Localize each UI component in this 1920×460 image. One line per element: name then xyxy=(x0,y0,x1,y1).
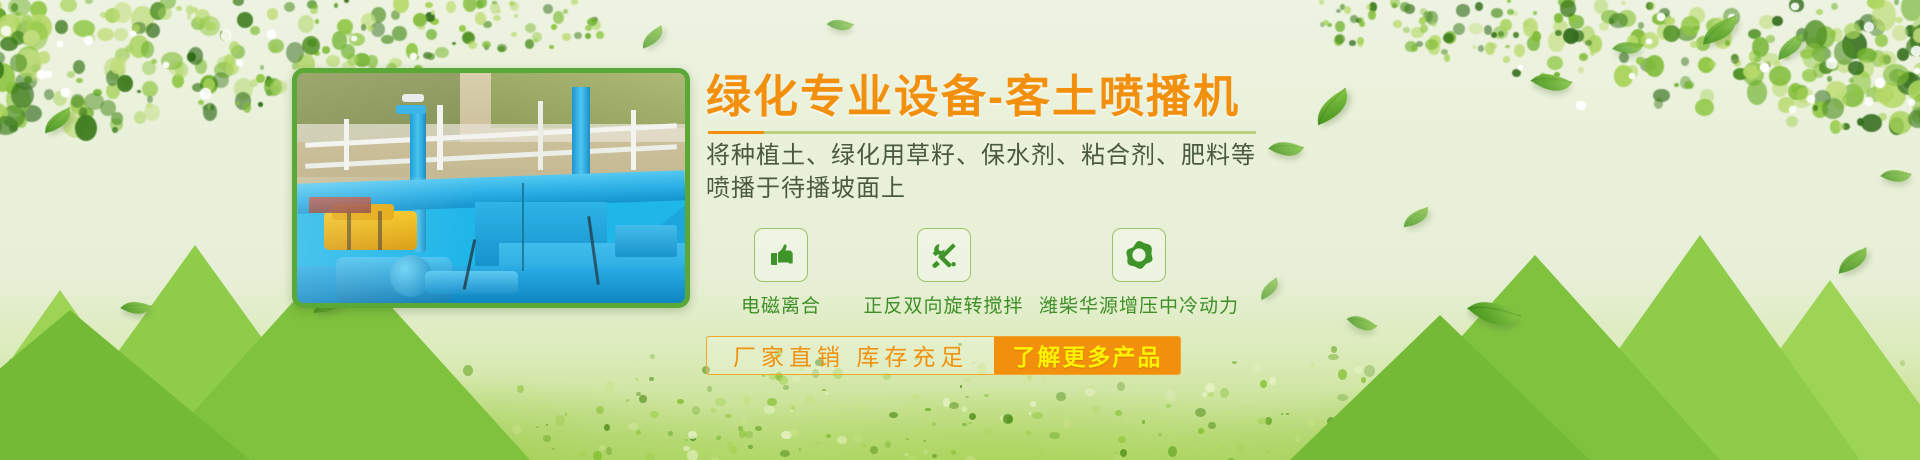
grass-speck xyxy=(984,428,993,436)
grass-speck xyxy=(1114,452,1117,454)
cta-bar: 厂家直销 库存充足 了解更多产品 xyxy=(706,336,1181,375)
grass-speck xyxy=(1141,385,1145,389)
grass-speck xyxy=(636,430,641,435)
grass-speck xyxy=(1198,428,1204,433)
grass-speck xyxy=(628,423,639,431)
title-divider xyxy=(708,131,1256,134)
grass-speck xyxy=(1117,382,1125,391)
grass-speck xyxy=(1056,436,1058,438)
engine-gear-icon xyxy=(1123,239,1155,271)
grass-speck xyxy=(960,385,963,388)
grass-speck xyxy=(687,450,698,460)
product-photo xyxy=(297,73,685,303)
grass-speck xyxy=(1118,436,1126,443)
grass-speck xyxy=(649,377,654,382)
grass-speck xyxy=(923,449,927,454)
grass-speck xyxy=(826,434,831,438)
grass-speck xyxy=(745,431,753,439)
grass-speck xyxy=(1266,449,1270,453)
grass-speck xyxy=(1041,452,1043,454)
grass-speck xyxy=(730,446,737,453)
grass-speck xyxy=(1220,446,1225,449)
grass-speck xyxy=(1208,392,1214,397)
grass-speck xyxy=(677,399,684,404)
grass-speck xyxy=(565,413,568,416)
grass-speck xyxy=(1257,418,1266,424)
promo-banner: 绿化专业设备-客土喷播机 将种植土、绿化用草籽、保水剂、粘合剂、肥料等 喷播于待… xyxy=(0,0,1920,460)
grass-speck xyxy=(1142,420,1145,424)
subtitle-line-1: 将种植土、绿化用草籽、保水剂、粘合剂、肥料等 xyxy=(706,140,1846,173)
grass-speck xyxy=(923,440,926,443)
grass-speck xyxy=(1195,408,1206,417)
grass-speck xyxy=(780,450,790,456)
grass-speck xyxy=(1225,409,1232,416)
grass-speck xyxy=(1026,430,1031,436)
grass-speck xyxy=(1003,414,1014,424)
feature-label: 正反双向旋转搅拌 xyxy=(863,291,1023,318)
grass-speck xyxy=(1042,378,1045,380)
grass-speck xyxy=(668,431,673,436)
grass-speck xyxy=(1032,412,1043,419)
tools-icon xyxy=(928,239,960,271)
grass-speck xyxy=(645,453,655,460)
grass-speck xyxy=(1120,449,1127,457)
grass-speck xyxy=(1085,388,1095,397)
grass-speck xyxy=(743,395,751,404)
grass-speck xyxy=(1202,392,1207,396)
grass-speck xyxy=(912,394,918,401)
grass-speck xyxy=(1123,415,1131,420)
grass-speck xyxy=(1168,446,1177,457)
thumbs-up-icon xyxy=(765,239,797,271)
grass-speck xyxy=(1063,419,1070,427)
grass-speck xyxy=(969,413,976,420)
learn-more-button[interactable]: 了解更多产品 xyxy=(994,337,1180,374)
grass-speck xyxy=(1208,422,1216,430)
feature-list: 电磁离合 正反双向旋转搅拌 xyxy=(706,228,1846,318)
grass-speck xyxy=(853,434,863,443)
grass-speck xyxy=(817,442,819,444)
grass-speck xyxy=(604,424,610,431)
feature-item-weichai-power[interactable]: 潍柴华源增压中冷动力 xyxy=(1031,228,1247,318)
grass-speck xyxy=(905,453,909,457)
grass-speck xyxy=(626,399,629,402)
grass-speck xyxy=(965,396,969,398)
grass-speck xyxy=(605,381,615,392)
grass-speck xyxy=(748,445,752,449)
grass-speck xyxy=(822,389,826,391)
feature-item-electromagnetic-clutch[interactable]: 电磁离合 xyxy=(706,228,856,318)
grass-speck xyxy=(639,395,647,404)
grass-speck xyxy=(555,415,566,426)
grass-speck xyxy=(889,412,898,419)
grass-speck xyxy=(1056,392,1065,401)
grass-speck xyxy=(837,436,847,445)
thumbs-up-icon-box xyxy=(754,228,808,282)
grass-speck xyxy=(1286,413,1289,415)
grass-speck xyxy=(599,445,605,452)
grass-speck xyxy=(799,448,802,451)
grass-speck xyxy=(862,444,867,447)
grass-speck xyxy=(774,435,776,437)
page-title: 绿化专业设备-客土喷播机 xyxy=(706,72,1846,122)
grass-speck xyxy=(1136,419,1142,426)
grass-speck xyxy=(1220,388,1229,398)
grass-speck xyxy=(755,426,762,431)
feature-item-bidirectional-mixing[interactable]: 正反双向旋转搅拌 xyxy=(856,228,1031,318)
banner-content: 绿化专业设备-客土喷播机 将种植土、绿化用草籽、保水剂、粘合剂、肥料等 喷播于待… xyxy=(706,72,1846,375)
grass-speck xyxy=(1235,444,1245,453)
grass-speck xyxy=(792,376,800,383)
feature-label: 潍柴华源增压中冷动力 xyxy=(1039,291,1239,318)
grass-speck xyxy=(1281,413,1283,415)
grass-speck xyxy=(906,438,909,440)
grass-speck xyxy=(870,446,878,454)
grass-speck xyxy=(779,376,788,386)
cta-tagline: 厂家直销 库存充足 xyxy=(707,337,994,374)
grass-speck xyxy=(1030,401,1036,407)
engine-gear-icon-box xyxy=(1112,228,1166,282)
grass-speck xyxy=(543,435,551,442)
grass-speck xyxy=(962,423,966,426)
grass-speck xyxy=(951,450,956,456)
grass-speck xyxy=(805,395,815,404)
grass-speck xyxy=(1166,404,1171,408)
grass-speck xyxy=(932,454,937,459)
grass-speck xyxy=(984,394,990,398)
subtitle-line-2: 喷播于待播坡面上 xyxy=(706,173,1846,206)
grass-speck xyxy=(685,439,688,441)
product-photo-frame[interactable] xyxy=(292,68,690,308)
grass-speck xyxy=(710,408,716,413)
grass-speck xyxy=(1260,380,1267,388)
grass-speck xyxy=(1165,389,1176,400)
grass-speck xyxy=(1083,407,1093,418)
grass-speck xyxy=(552,448,555,450)
grass-speck xyxy=(725,414,732,419)
grass-speck xyxy=(692,406,701,415)
grass-speck xyxy=(968,422,972,424)
grass-speck xyxy=(908,456,916,460)
grass-speck xyxy=(1115,410,1121,416)
grass-speck xyxy=(825,392,830,395)
tools-icon-box xyxy=(917,228,971,282)
grass-speck xyxy=(949,402,959,409)
grass-speck xyxy=(1029,412,1031,414)
grass-speck xyxy=(636,379,639,381)
grass-speck xyxy=(790,429,799,437)
grass-speck xyxy=(743,418,745,419)
grass-speck xyxy=(764,405,774,414)
grass-speck xyxy=(860,407,868,412)
grass-speck xyxy=(932,422,936,426)
grass-speck xyxy=(962,406,967,411)
grass-speck xyxy=(885,441,891,448)
grass-speck xyxy=(783,385,789,389)
grass-speck xyxy=(546,424,548,426)
grass-speck xyxy=(606,447,612,455)
grass-speck xyxy=(715,398,726,406)
grass-speck xyxy=(925,408,930,411)
grass-speck xyxy=(596,406,603,414)
grass-speck xyxy=(767,398,777,406)
feature-label: 电磁离合 xyxy=(741,291,821,318)
grass-speck xyxy=(964,377,970,381)
grass-speck xyxy=(536,426,538,428)
grass-speck xyxy=(965,456,976,460)
grass-speck xyxy=(1269,377,1276,385)
grass-speck xyxy=(650,411,658,418)
grass-speck xyxy=(707,386,713,392)
grass-speck xyxy=(943,398,950,406)
grass-speck xyxy=(1027,375,1033,380)
grass-speck xyxy=(579,451,587,458)
grass-speck xyxy=(1158,433,1162,436)
grass-speck xyxy=(650,354,656,359)
grass-speck xyxy=(593,451,603,460)
